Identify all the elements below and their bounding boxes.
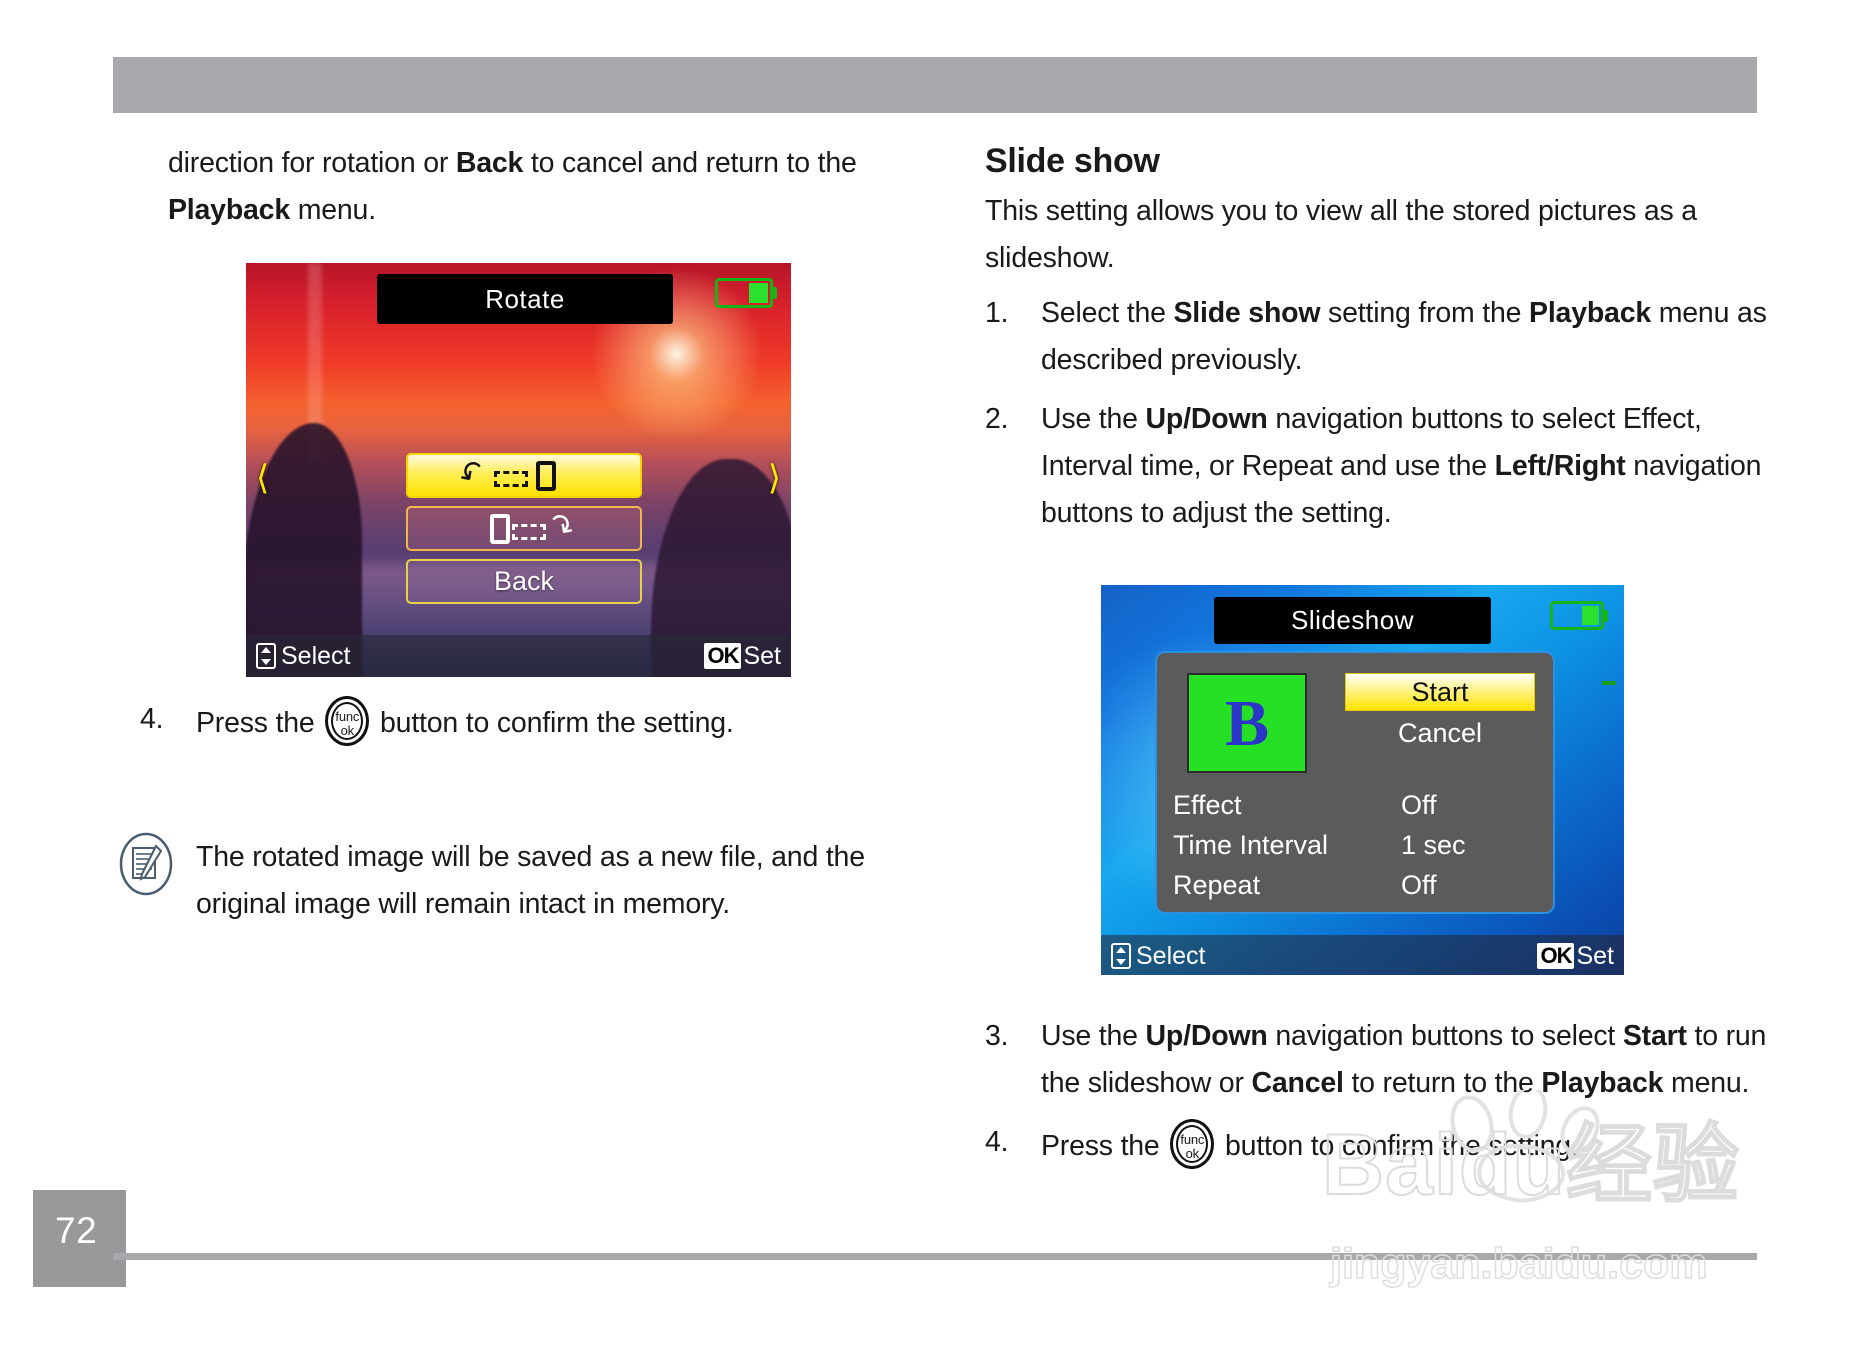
text-bold: Playback [1541, 1067, 1663, 1099]
lcd-statusbar-slideshow: Select OKSet [1101, 935, 1624, 975]
statusbar-set-label: Set [1576, 936, 1614, 975]
func-ok-button-icon[interactable]: func ok [325, 696, 369, 746]
text-bold: Start [1623, 1020, 1687, 1052]
statusbar-set-label: Set [743, 635, 781, 677]
footer-rule [113, 1253, 1757, 1260]
text-seg: to return to the [1344, 1067, 1542, 1099]
text-seg: Select the [1041, 297, 1173, 329]
setting-key: Time Interval [1173, 825, 1328, 865]
text-seg: Use the [1041, 1020, 1146, 1052]
thumbnail-preview: B [1187, 673, 1307, 773]
rotate-continued-paragraph: direction for rotation or Back to cancel… [168, 140, 898, 234]
text-seg: Press the [1041, 1130, 1167, 1162]
ok-badge: OK [1537, 943, 1574, 969]
setting-row-time-interval[interactable]: Time Interval 1 sec [1165, 825, 1545, 865]
left-text-column: direction for rotation or Back to cancel… [168, 140, 898, 242]
note-callout: The rotated image will be saved as a new… [118, 832, 878, 928]
setting-row-effect[interactable]: Effect Off [1165, 785, 1545, 825]
step-row-2: 2.Use the Up/Down navigation buttons to … [985, 396, 1785, 537]
thumbnail-letter: B [1189, 685, 1305, 763]
statusbar-select-label: Select [281, 635, 350, 677]
setting-value: Off [1401, 865, 1437, 905]
text-bold: Slide show [1173, 297, 1320, 329]
lcd-screenshot-slideshow: Slideshow B Start Cancel Effect Off Time… [1101, 585, 1624, 975]
lcd-title-rotate: Rotate [377, 274, 673, 324]
chevron-left-icon[interactable]: ⟨ [256, 461, 269, 495]
page-number-badge: 72 [33, 1190, 126, 1287]
ok-badge: OK [704, 643, 741, 669]
lcd-statusbar-rotate: Select OKSet [246, 635, 791, 677]
step-number: 4. [140, 696, 184, 743]
setting-row-repeat[interactable]: Repeat Off [1165, 865, 1545, 905]
statusbar-select-hint: Select [256, 635, 350, 677]
statusbar-select-label: Select [1136, 936, 1205, 975]
text-seg: to cancel and return to the [523, 147, 856, 179]
func-label: func [1173, 1133, 1211, 1146]
step-row-3: 3.Use the Up/Down navigation buttons to … [985, 1013, 1785, 1107]
updown-icon [1111, 943, 1131, 969]
step-row: 4.Press the func ok button to confirm th… [140, 696, 900, 747]
slideshow-panel: B Start Cancel Effect Off Time Interval … [1155, 651, 1555, 914]
text-seg: navigation buttons to select [1268, 1020, 1623, 1052]
lcd-title-slideshow: Slideshow [1214, 597, 1491, 644]
text-bold: Playback [168, 194, 290, 226]
slide-show-intro: This setting allows you to view all the … [985, 188, 1785, 282]
watermark-sub-text: jingyan.baidu.com [1330, 1243, 1708, 1286]
battery-icon [715, 278, 773, 308]
left-step-4-block: 4.Press the func ok button to confirm th… [140, 696, 900, 759]
text-bold: Up/Down [1146, 1020, 1268, 1052]
note-pencil-icon [118, 832, 174, 896]
text-bold: Playback [1529, 297, 1651, 329]
func-ok-button-icon[interactable]: func ok [1170, 1119, 1214, 1169]
setting-key: Repeat [1173, 865, 1260, 905]
updown-icon [256, 643, 276, 669]
right-steps-tail: 3.Use the Up/Down navigation buttons to … [985, 1013, 1785, 1182]
text-bold: Left/Right [1495, 450, 1626, 482]
text-bold: Cancel [1251, 1067, 1343, 1099]
level-tick-icon [1602, 681, 1616, 685]
menu-item-rotate-cw[interactable]: ↶ [406, 506, 642, 551]
statusbar-set-hint: OKSet [1537, 935, 1614, 975]
text-bold: Up/Down [1146, 403, 1268, 435]
step-number: 4. [985, 1119, 1029, 1166]
page-header-bar [113, 57, 1757, 113]
rotate-counterclockwise-icon: ↶ [408, 455, 640, 496]
page-number: 72 [55, 1210, 97, 1252]
chevron-right-icon[interactable]: ⟩ [768, 461, 781, 495]
menu-item-back[interactable]: Back [406, 559, 642, 604]
setting-value: 1 sec [1401, 825, 1466, 865]
text-seg: Press the [196, 707, 322, 739]
battery-icon [1550, 601, 1604, 630]
ok-label: ok [328, 724, 366, 737]
lcd-screenshot-rotate: Rotate ⟨ ⟩ ↶ ↶ Back Select OKSet [246, 263, 791, 677]
setting-key: Effect [1173, 785, 1242, 825]
statusbar-select-hint: Select [1111, 935, 1205, 975]
step-number: 2. [985, 396, 1029, 443]
slideshow-start-button[interactable]: Start [1345, 673, 1535, 711]
step-row-1: 1.Select the Slide show setting from the… [985, 290, 1785, 384]
text-seg: setting from the [1320, 297, 1529, 329]
right-text-column: Slide show This setting allows you to vi… [985, 138, 1785, 549]
section-title-slide-show: Slide show [985, 138, 1785, 184]
func-label: func [328, 710, 366, 723]
text-seg: Use the [1041, 403, 1146, 435]
step-row-4: 4.Press the func ok button to confirm th… [985, 1119, 1785, 1170]
ok-label: ok [1173, 1147, 1211, 1160]
text-seg: direction for rotation or [168, 147, 456, 179]
menu-item-rotate-ccw[interactable]: ↶ [406, 453, 642, 498]
statusbar-set-hint: OKSet [704, 635, 781, 677]
text-seg: menu. [1663, 1067, 1749, 1099]
setting-value: Off [1401, 785, 1437, 825]
slideshow-settings-list: Effect Off Time Interval 1 sec Repeat Of… [1165, 785, 1545, 905]
text-bold: Back [456, 147, 523, 179]
text-seg: button to confirm the setting. [1217, 1130, 1578, 1162]
text-seg: button to confirm the setting. [372, 707, 733, 739]
slideshow-cancel-button[interactable]: Cancel [1345, 715, 1535, 751]
step-number: 3. [985, 1013, 1029, 1060]
step-number: 1. [985, 290, 1029, 337]
note-text: The rotated image will be saved as a new… [196, 832, 878, 928]
text-seg: menu. [290, 194, 376, 226]
rotate-clockwise-icon: ↶ [408, 508, 640, 549]
